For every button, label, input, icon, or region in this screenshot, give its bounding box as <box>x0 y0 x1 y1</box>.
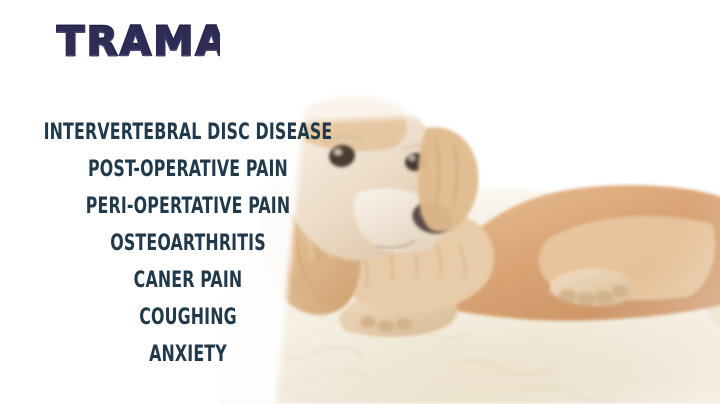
indication-list: INTERVERTEBRAL DISC DISEASE POST-OPERATI… <box>0 114 376 373</box>
list-item: ANXIETY <box>38 336 339 373</box>
list-item: COUGHING <box>38 299 339 336</box>
list-item: PERI-OPERTATIVE PAIN <box>38 188 339 225</box>
list-item: OSTEOARTHRITIS <box>38 225 339 262</box>
slide-canvas: TRAMADOLINDICATIONS INTERVERTEBRAL DISC … <box>0 0 720 404</box>
list-item: INTERVERTEBRAL DISC DISEASE <box>38 114 339 151</box>
list-item: POST-OPERATIVE PAIN <box>38 151 339 188</box>
list-item: CANER PAIN <box>38 262 339 299</box>
